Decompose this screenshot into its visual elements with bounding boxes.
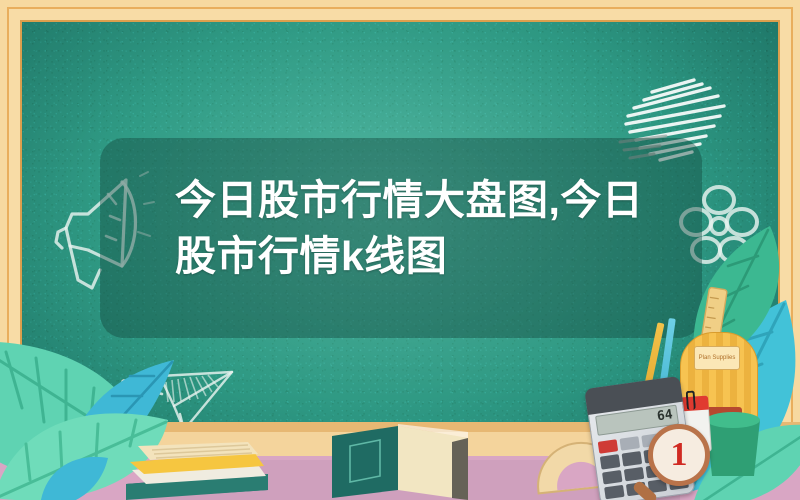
calculator-key-ac xyxy=(598,439,618,454)
page-title: 今日股市行情大盘图,今日股市行情k线图 xyxy=(175,172,645,284)
calculator-key xyxy=(602,469,622,484)
books-stack-left xyxy=(122,440,274,500)
banner-canvas: 今日股市行情大盘图,今日股市行情k线图 xyxy=(0,0,800,500)
notebook-ring xyxy=(686,390,696,410)
calculator-key xyxy=(600,454,620,469)
calculator-key xyxy=(621,451,641,466)
leaf-left-small-icon xyxy=(38,452,110,500)
magnifying-glass-icon: 1 xyxy=(648,424,710,486)
magnifier-number: 1 xyxy=(648,424,710,486)
backpack-tag-label: Plan Supplies xyxy=(694,346,740,370)
calculator-key xyxy=(623,466,643,481)
calculator-key xyxy=(619,436,639,451)
book-standing-center xyxy=(322,424,476,500)
calculator-key xyxy=(604,485,624,500)
